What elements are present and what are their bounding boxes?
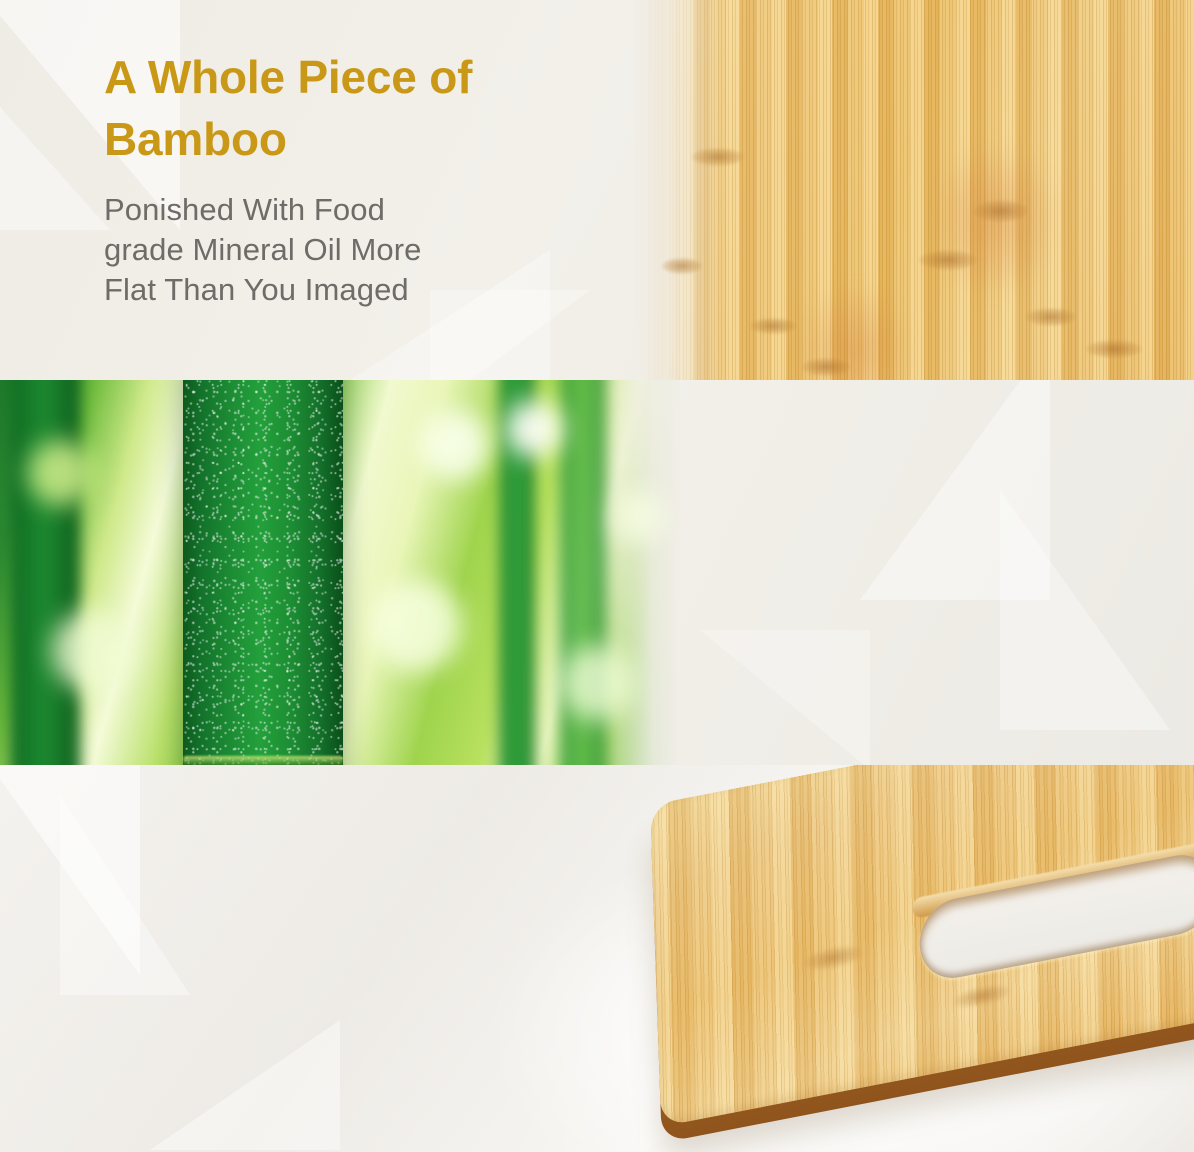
panel-1-body-line-3: Flat Than You Imaged [104,270,604,310]
panel-ergonomic-handle-cutout: Ergonomic Handie Cutout Easy to Take and… [0,765,1194,1152]
handle-cutout [918,848,1194,984]
wood-node-mark [974,200,1028,222]
bokeh-highlight [560,645,636,721]
wood-node-mark [662,258,702,274]
wood-node-mark [1086,340,1142,358]
panel-1-heading-line-2: Bamboo [104,108,604,170]
board-node-mark [953,982,1011,1011]
panel-1-body: Ponished With Food grade Mineral Oil Mor… [104,190,604,310]
bokeh-highlight [505,400,563,458]
panel-1-body-line-1: Ponished With Food [104,190,604,230]
product-infographic: A Whole Piece of Bamboo Ponished With Fo… [0,0,1194,1152]
wood-node-mark [802,358,850,376]
bokeh-highlight [612,490,666,544]
panel-1-heading: A Whole Piece of Bamboo [104,46,604,170]
wood-node-mark [750,318,796,334]
panel-whole-piece-of-bamboo: A Whole Piece of Bamboo Ponished With Fo… [0,0,1194,380]
wood-node-mark [919,250,977,270]
panel-1-body-line-2: grade Mineral Oil More [104,230,604,270]
green-bamboo-stalk-photo [0,380,680,765]
water-droplets [183,380,343,765]
bokeh-highlight [28,440,94,506]
bokeh-highlight [52,610,134,692]
bamboo-stalk-foreground [183,380,343,765]
panel-1-text-block: A Whole Piece of Bamboo Ponished With Fo… [104,46,604,310]
bamboo-node-ring [183,756,343,765]
bamboo-wood-grain-photo [634,0,1194,380]
board-node-mark [803,942,863,974]
wood-node-mark [1026,308,1076,326]
bokeh-highlight [370,580,462,672]
panel-3-background [0,765,1194,1152]
panel-1-heading-line-1: A Whole Piece of [104,46,604,108]
background-stalk [10,380,80,765]
panel-eco-friendly-moso-bamboo: Eco Friendly Moso Bamboo Bamboo-one of t… [0,380,1194,765]
board-node-mark [1073,765,1152,767]
bokeh-highlight [420,410,490,480]
wood-node-mark [692,148,744,166]
